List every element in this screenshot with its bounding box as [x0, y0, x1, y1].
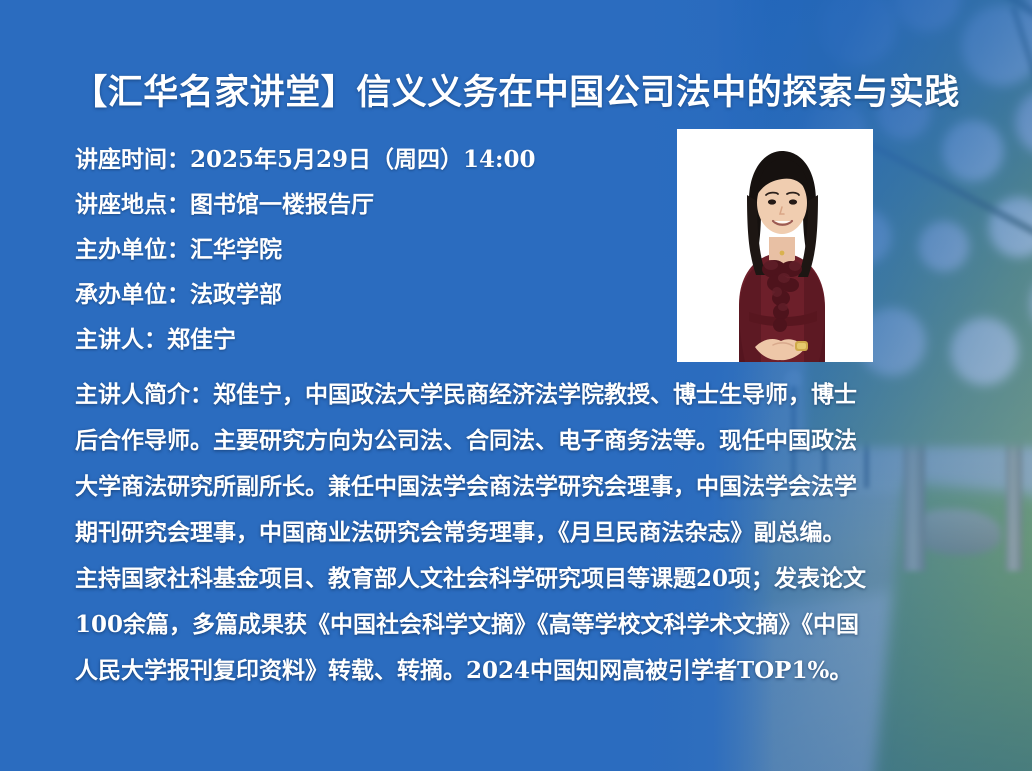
bio-line: 人民大学报刊复印资料》转载、转摘。2024中国知网高被引学者TOP1%。	[75, 648, 970, 694]
poster-content: 【汇华名家讲堂】信义义务在中国公司法中的探索与实践 讲座时间：2025年5月29…	[0, 0, 1032, 771]
info-line-organizer: 主办单位：汇华学院	[75, 227, 675, 272]
info-line-co-organizer: 承办单位：法政学部	[75, 272, 675, 317]
lecture-info-list: 讲座时间：2025年5月29日（周四）14:00 讲座地点：图书馆一楼报告厅 主…	[75, 137, 675, 362]
speaker-bio: 主讲人简介：郑佳宁，中国政法大学民商经济法学院教授、博士生导师，博士 后合作导师…	[75, 372, 970, 694]
bio-line: 大学商法研究所副所长。兼任中国法学会商法学研究会理事，中国法学会法学	[75, 464, 970, 510]
lecture-poster: 【汇华名家讲堂】信义义务在中国公司法中的探索与实践 讲座时间：2025年5月29…	[0, 0, 1032, 771]
bio-line: 后合作导师。主要研究方向为公司法、合同法、电子商务法等。现任中国政法	[75, 418, 970, 464]
bio-line: 主持国家社科基金项目、教育部人文社会科学研究项目等课题20项；发表论文	[75, 556, 970, 602]
bio-line: 100余篇，多篇成果获《中国社会科学文摘》《高等学校文科学术文摘》《中国	[75, 602, 970, 648]
bio-line: 期刊研究会理事，中国商业法研究会常务理事，《月旦民商法杂志》副总编。	[75, 510, 970, 556]
speaker-portrait	[677, 129, 873, 362]
info-line-time: 讲座时间：2025年5月29日（周四）14:00	[75, 137, 675, 182]
page-title: 【汇华名家讲堂】信义义务在中国公司法中的探索与实践	[0, 64, 1032, 115]
info-line-location: 讲座地点：图书馆一楼报告厅	[75, 182, 675, 227]
info-line-speaker: 主讲人：郑佳宁	[75, 317, 675, 362]
bio-line: 主讲人简介：郑佳宁，中国政法大学民商经济法学院教授、博士生导师，博士	[75, 372, 970, 418]
